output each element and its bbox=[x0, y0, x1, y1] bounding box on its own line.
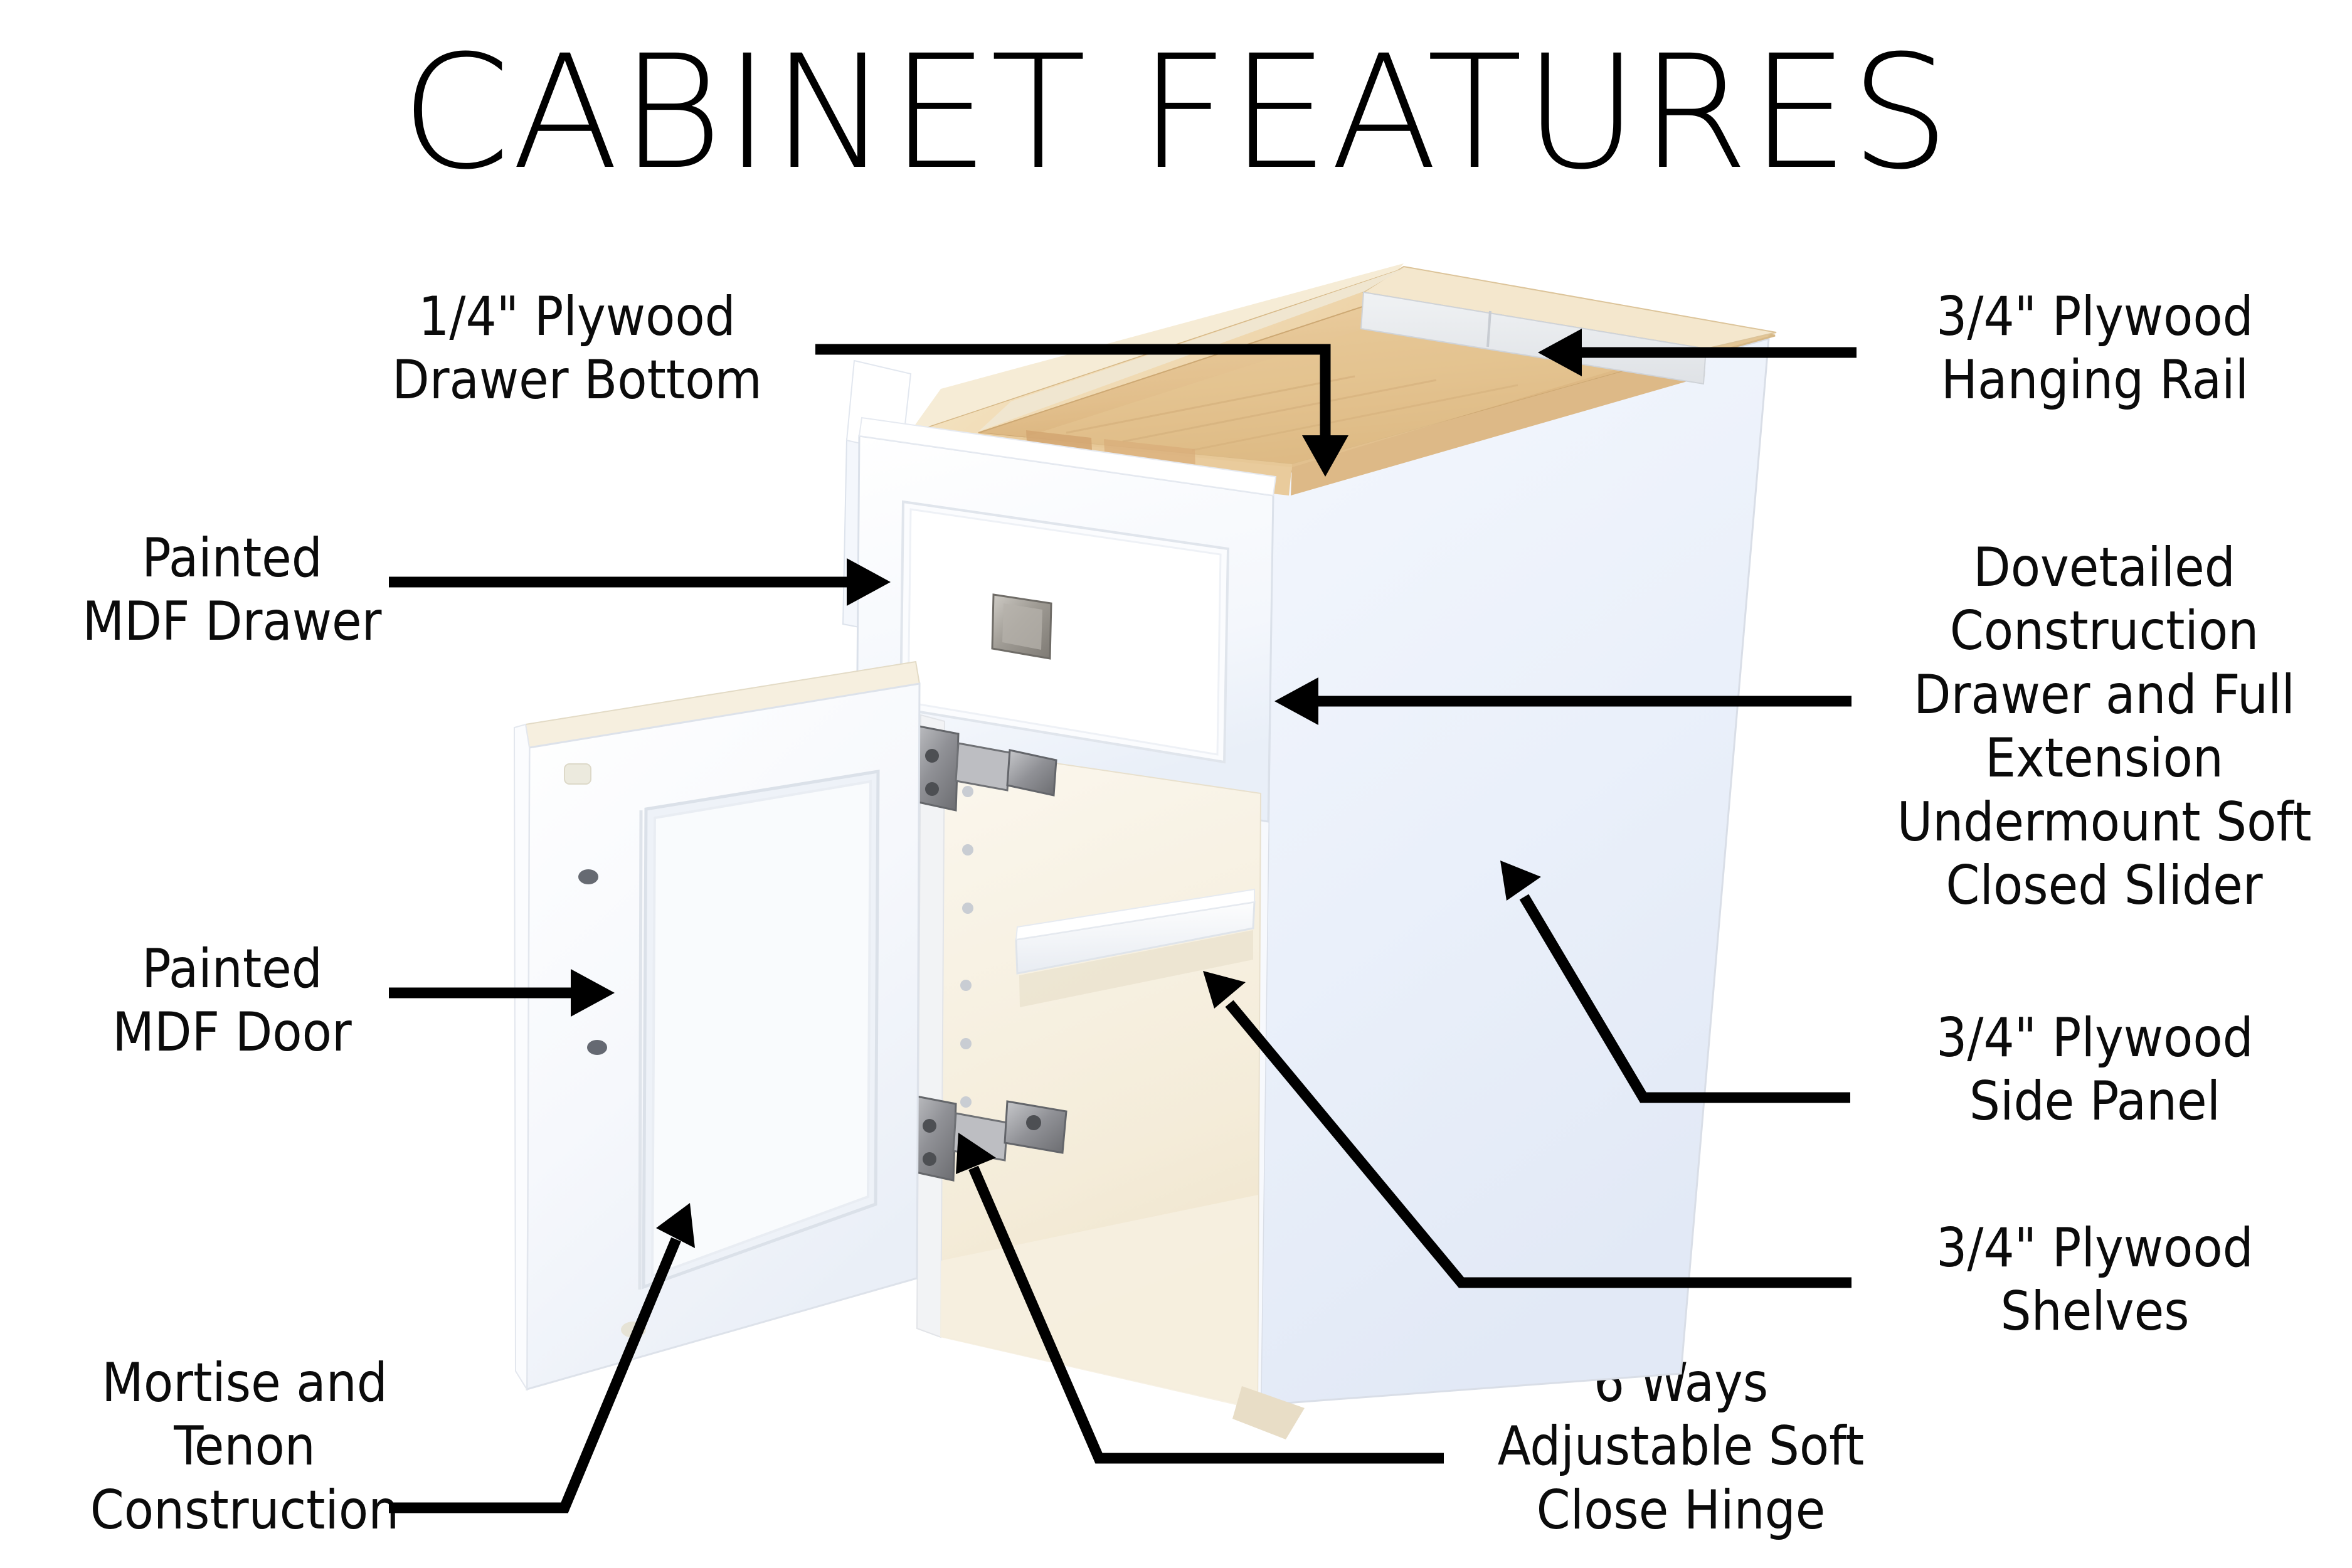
arrow-painted-door bbox=[389, 969, 615, 1017]
arrow-side-panel bbox=[1500, 861, 1850, 1098]
arrow-drawer-bottom bbox=[815, 349, 1348, 477]
arrow-painted-drawer bbox=[389, 558, 891, 606]
arrow-shelves bbox=[1203, 971, 1851, 1283]
arrow-hanging-rail bbox=[1538, 329, 1857, 376]
poster-canvas: CABINET FEATURES bbox=[0, 0, 2352, 1568]
arrow-dovetail bbox=[1274, 677, 1851, 725]
arrow-mortise bbox=[389, 1203, 695, 1508]
callout-arrows bbox=[0, 0, 2352, 1568]
